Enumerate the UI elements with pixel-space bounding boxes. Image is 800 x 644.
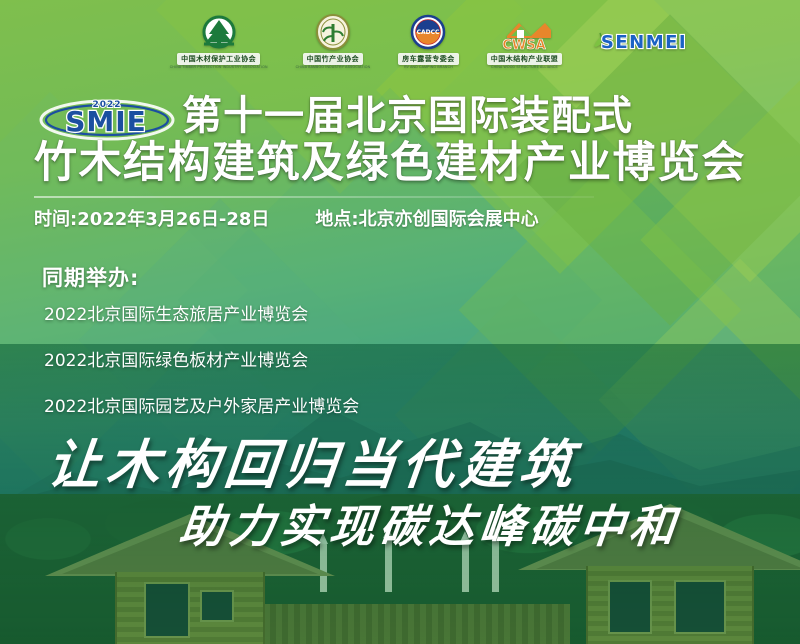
event-meta: 时间:2022年3月26日-28日 地点:北京亦创国际会展中心 [34,205,539,231]
event-venue: 地点:北京亦创国际会展中心 [315,205,538,231]
logo-cadcc-rv-camping: CADCC 房车露营专委会 RV AND CAMPING BRANCH [398,14,459,69]
page-title-line2: 竹木结构建筑及绿色建材产业博览会 [34,142,794,185]
logo-label-cn: 中国竹产业协会 [303,53,364,65]
logo-senmei: SENMEI [590,28,690,54]
logo-label-cn: 中国木结构产业联盟 [487,53,563,65]
logo-label-en: CHINA WOOD STRUCTURE ALLIANCE [491,65,558,69]
page-title-line1: 第十一届北京国际装配式 [182,96,794,136]
logo-label-en: RV AND CAMPING BRANCH [404,65,453,69]
title-divider [34,196,594,198]
svg-text:CADCC: CADCC [417,29,440,36]
bamboo-seal-icon [312,14,354,52]
organiser-logo-strip: 中国木材保护工业协会 CHINA TIMBER PROTECTION INDUS… [0,6,800,76]
logo-label-en: CHINA TIMBER PROTECTION INDUSTRY ASSOCIA… [170,65,268,69]
senmei-leaf-wordmark-icon: SENMEI [590,28,690,54]
svg-text:SENMEI: SENMEI [601,32,687,53]
slogan-line2: 助力实现碳达峰碳中和 [177,490,684,555]
logo-bamboo-association: 中国竹产业协会 CHINA BAMBOO INDUSTRY ASSOCIATIO… [296,14,371,69]
logo-china-timber-protection: 中国木材保护工业协会 CHINA TIMBER PROTECTION INDUS… [170,14,268,69]
concurrent-events-heading: 同期举办: [42,262,139,292]
svg-text:CWSA: CWSA [503,38,546,52]
logo-label-cn: 房车露营专委会 [398,53,459,65]
slogan-line1: 让木构回归当代建筑 [44,423,583,499]
cwsa-house-icon: CWSA [493,14,555,52]
logo-label-cn: 中国木材保护工业协会 [177,53,260,65]
concurrent-events-list: 2022北京国际生态旅居产业博览会 2022北京国际绿色板材产业博览会 2022… [44,300,359,438]
logo-cwsa-wood-structure: CWSA 中国木结构产业联盟 CHINA WOOD STRUCTURE ALLI… [487,14,563,69]
event-poster: 中国木材保护工业协会 CHINA TIMBER PROTECTION INDUS… [0,0,800,644]
list-item: 2022北京国际园艺及户外家居产业博览会 [44,392,359,417]
smie-event-badge: 2022 SMIE [38,94,176,144]
cadcc-roundel-icon: CADCC [407,14,449,52]
smie-badge-acronym: SMIE [65,105,147,138]
logo-label-en: CHINA BAMBOO INDUSTRY ASSOCIATION [296,65,371,69]
list-item: 2022北京国际生态旅居产业博览会 [44,300,359,325]
event-date: 时间:2022年3月26日-28日 [34,205,269,231]
pine-tree-circle-icon [196,14,242,52]
list-item: 2022北京国际绿色板材产业博览会 [44,346,359,371]
